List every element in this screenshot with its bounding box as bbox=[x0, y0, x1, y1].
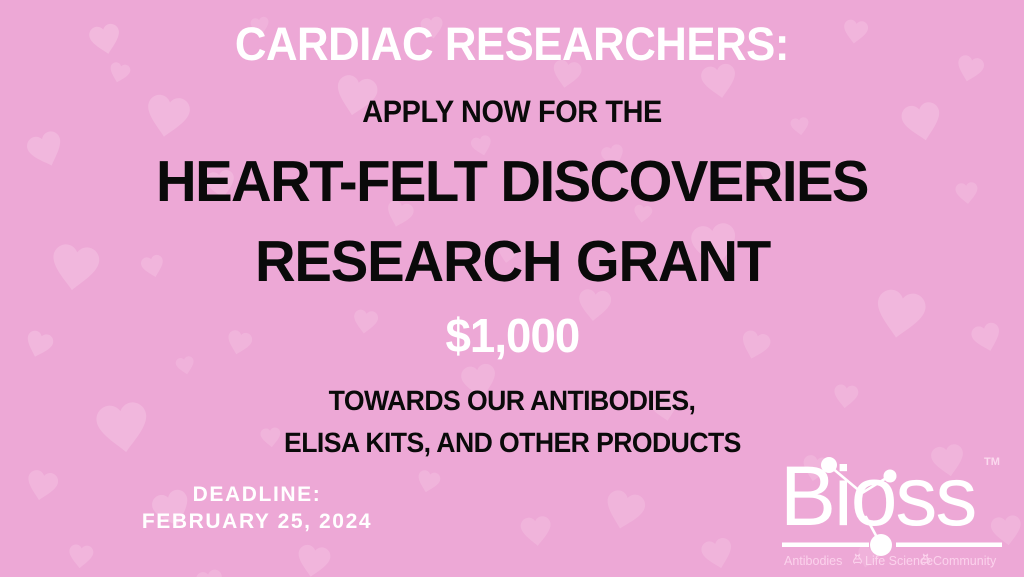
tagline-community: Community bbox=[933, 554, 997, 568]
logo-divider-right bbox=[896, 543, 1002, 548]
tagline-antibodies: Antibodies bbox=[784, 554, 842, 568]
grant-title-line-2: RESEARCH GRANT bbox=[254, 233, 769, 291]
grant-amount: $1,000 bbox=[445, 313, 579, 361]
dna-helix-icon bbox=[854, 554, 862, 564]
trademark-symbol: TM bbox=[984, 456, 1000, 468]
grant-usage-line-1: TOWARDS OUR ANTIBODIES, bbox=[329, 387, 696, 415]
grant-title-line-1: HEART-FELT DISCOVERIES bbox=[156, 153, 868, 211]
bioss-wordmark: Bioss bbox=[780, 449, 975, 543]
grant-usage-line-2: ELISA KITS, AND OTHER PRODUCTS bbox=[284, 429, 741, 457]
deadline-label: DEADLINE: bbox=[0, 482, 514, 509]
tagline-life-science: Life Science bbox=[865, 554, 933, 568]
logo-tagline: Antibodies Life Science Community bbox=[784, 554, 997, 568]
logo-divider-left bbox=[782, 543, 869, 548]
apply-subheading: APPLY NOW FOR THE bbox=[362, 96, 662, 127]
promotional-poster: CARDIAC RESEARCHERS: APPLY NOW FOR THE H… bbox=[0, 0, 1024, 577]
deadline-date: FEBRUARY 25, 2024 bbox=[0, 509, 514, 536]
eyebrow-heading: CARDIAC RESEARCHERS: bbox=[235, 20, 789, 67]
bioss-logo[interactable]: Bioss TM Antibodies Life Science Communi… bbox=[776, 445, 1008, 571]
